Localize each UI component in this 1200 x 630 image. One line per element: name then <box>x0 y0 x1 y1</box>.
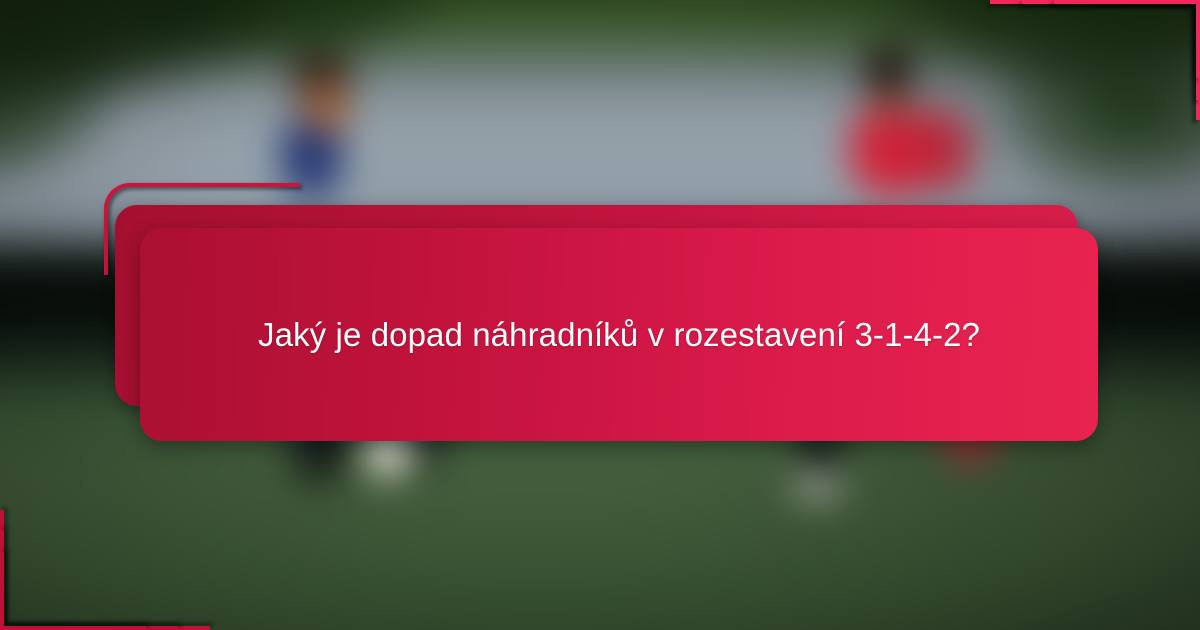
page-title: Jaký je dopad náhradníků v rozestavení 3… <box>140 308 1098 361</box>
corner-line-inner-icon <box>1054 0 1200 78</box>
corner-bracket-top-right <box>990 0 1200 120</box>
screenshot-stage: Jaký je dopad náhradníků v rozestavení 3… <box>0 0 1200 630</box>
corner-line-inner-icon <box>0 552 146 630</box>
title-card-front: Jaký je dopad náhradníků v rozestavení 3… <box>140 228 1098 441</box>
corner-bracket-bottom-left <box>0 510 210 630</box>
